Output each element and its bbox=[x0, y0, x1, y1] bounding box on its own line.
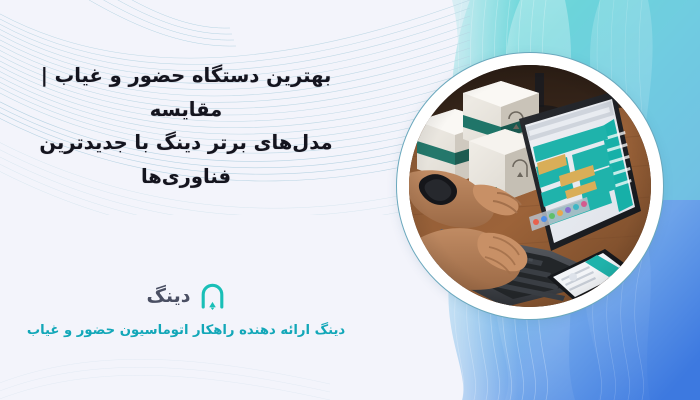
page-title: بهترین دستگاه حضور و غیاب | مقایسه مدل‌ه… bbox=[14, 59, 358, 193]
hero-photo bbox=[396, 52, 664, 320]
laptop-desk-illustration bbox=[409, 65, 651, 307]
headline-line-2: مدل‌های برتر دینگ با جدیدترین فناوری‌ها bbox=[14, 126, 358, 193]
brand-lockup: دینگ دینگ ارائه دهنده راهکار اتوماسیون ح… bbox=[27, 283, 345, 341]
banner-root: بهترین دستگاه حضور و غیاب | مقایسه مدل‌ه… bbox=[0, 0, 700, 400]
text-content-column: بهترین دستگاه حضور و غیاب | مقایسه مدل‌ه… bbox=[0, 0, 372, 400]
headline-line-1: بهترین دستگاه حضور و غیاب | مقایسه bbox=[41, 64, 332, 121]
ding-arch-logo-icon bbox=[200, 283, 226, 310]
logo: دینگ bbox=[146, 283, 225, 310]
tagline: دینگ ارائه دهنده راهکار اتوماسیون حضور و… bbox=[27, 321, 345, 341]
brand-name: دینگ bbox=[146, 287, 190, 306]
photo-clip bbox=[409, 65, 651, 307]
